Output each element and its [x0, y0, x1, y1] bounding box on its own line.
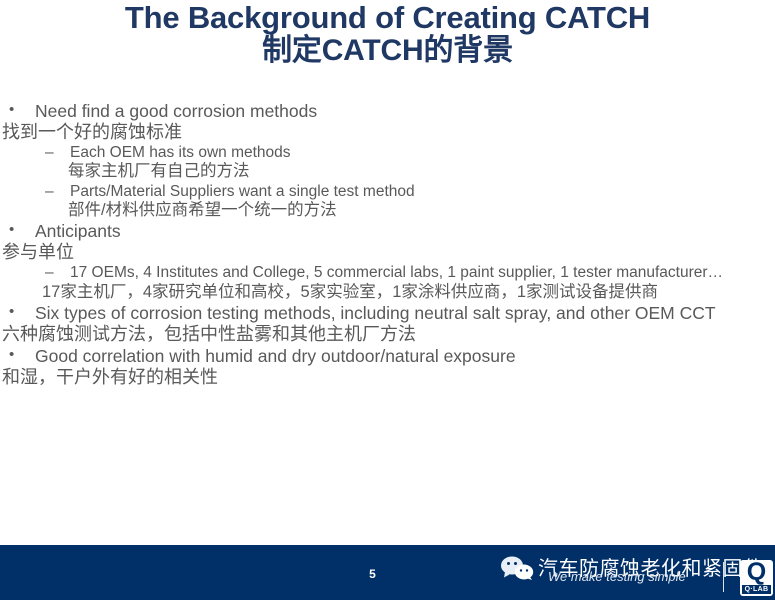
bullet-text: Need find a good corrosion methods	[35, 101, 317, 121]
title-chinese-prefix: 制定	[262, 34, 322, 67]
translation-text: 17家主机厂，4家研究单位和高校，5家实验室，1家涂料供应商，1家测试设备提供商	[42, 283, 658, 301]
bullet-line-level1: •Need find a good corrosion methods	[0, 101, 775, 122]
translation-line-chinese: 17家主机厂，4家研究单位和高校，5家实验室，1家涂料供应商，1家测试设备提供商	[0, 283, 775, 302]
bullet-text: 17 OEMs, 4 Institutes and College, 5 com…	[70, 264, 723, 281]
slide-body: •Need find a good corrosion methods找到一个好…	[0, 100, 775, 388]
translation-text: 和湿，干户外有好的相关性	[2, 367, 218, 387]
bullet-line-level1: •Good correlation with humid and dry out…	[0, 346, 775, 367]
bullet-line-level1: •Six types of corrosion testing methods,…	[0, 303, 775, 324]
bullet-text: Parts/Material Suppliers want a single t…	[70, 183, 415, 200]
translation-line-chinese: 参与单位	[0, 242, 775, 263]
translation-line-chinese: 六种腐蚀测试方法，包括中性盐雾和其他主机厂方法	[0, 324, 775, 345]
slide-title: The Background of Creating CATCH 制定CATCH…	[0, 2, 775, 67]
bullet-text: Six types of corrosion testing methods, …	[35, 303, 716, 323]
footer-tagline: We make testing simple	[548, 569, 686, 584]
bullet-text: Anticipants	[35, 221, 121, 241]
bullet-text: Each OEM has its own methods	[70, 144, 291, 161]
footer-divider	[723, 562, 724, 592]
translation-text: 每家主机厂有自己的方法	[68, 162, 250, 180]
bullet-marker: •	[9, 221, 14, 239]
bullet-line-level1: •Anticipants	[0, 221, 775, 242]
qlab-logo-wordmark: Q·LAB	[742, 585, 771, 594]
title-chinese-suffix: 的背景	[423, 34, 512, 67]
slide-canvas: The Background of Creating CATCH 制定CATCH…	[0, 0, 775, 600]
translation-line-chinese: 每家主机厂有自己的方法	[0, 162, 775, 181]
translation-text: 参与单位	[2, 242, 74, 262]
title-line-english: The Background of Creating CATCH	[0, 2, 775, 35]
dash-marker: –	[45, 183, 54, 201]
bullet-marker: •	[9, 303, 14, 321]
qlab-logo-letter: Q	[740, 559, 773, 585]
bullet-marker: •	[9, 346, 14, 364]
dash-marker: –	[45, 144, 54, 162]
bullet-line-level2: –Parts/Material Suppliers want a single …	[0, 183, 775, 201]
title-chinese-acronym: CATCH	[322, 34, 424, 67]
bullet-line-level2: –17 OEMs, 4 Institutes and College, 5 co…	[0, 264, 775, 282]
translation-line-chinese: 和湿，干户外有好的相关性	[0, 367, 775, 388]
qlab-logo: Q Q·LAB	[740, 560, 773, 596]
bullet-text: Good correlation with humid and dry outd…	[35, 346, 516, 366]
translation-text: 找到一个好的腐蚀标准	[2, 122, 182, 142]
wechat-icon	[500, 556, 534, 580]
translation-text: 六种腐蚀测试方法，包括中性盐雾和其他主机厂方法	[2, 324, 416, 344]
bullet-line-level2: –Each OEM has its own methods	[0, 144, 775, 162]
bullet-marker: •	[9, 101, 14, 119]
dash-marker: –	[45, 264, 54, 282]
translation-line-chinese: 找到一个好的腐蚀标准	[0, 122, 775, 143]
translation-line-chinese: 部件/材料供应商希望一个统一的方法	[0, 201, 775, 220]
translation-text: 部件/材料供应商希望一个统一的方法	[68, 201, 337, 219]
title-line-chinese: 制定CATCH的背景	[0, 35, 775, 67]
